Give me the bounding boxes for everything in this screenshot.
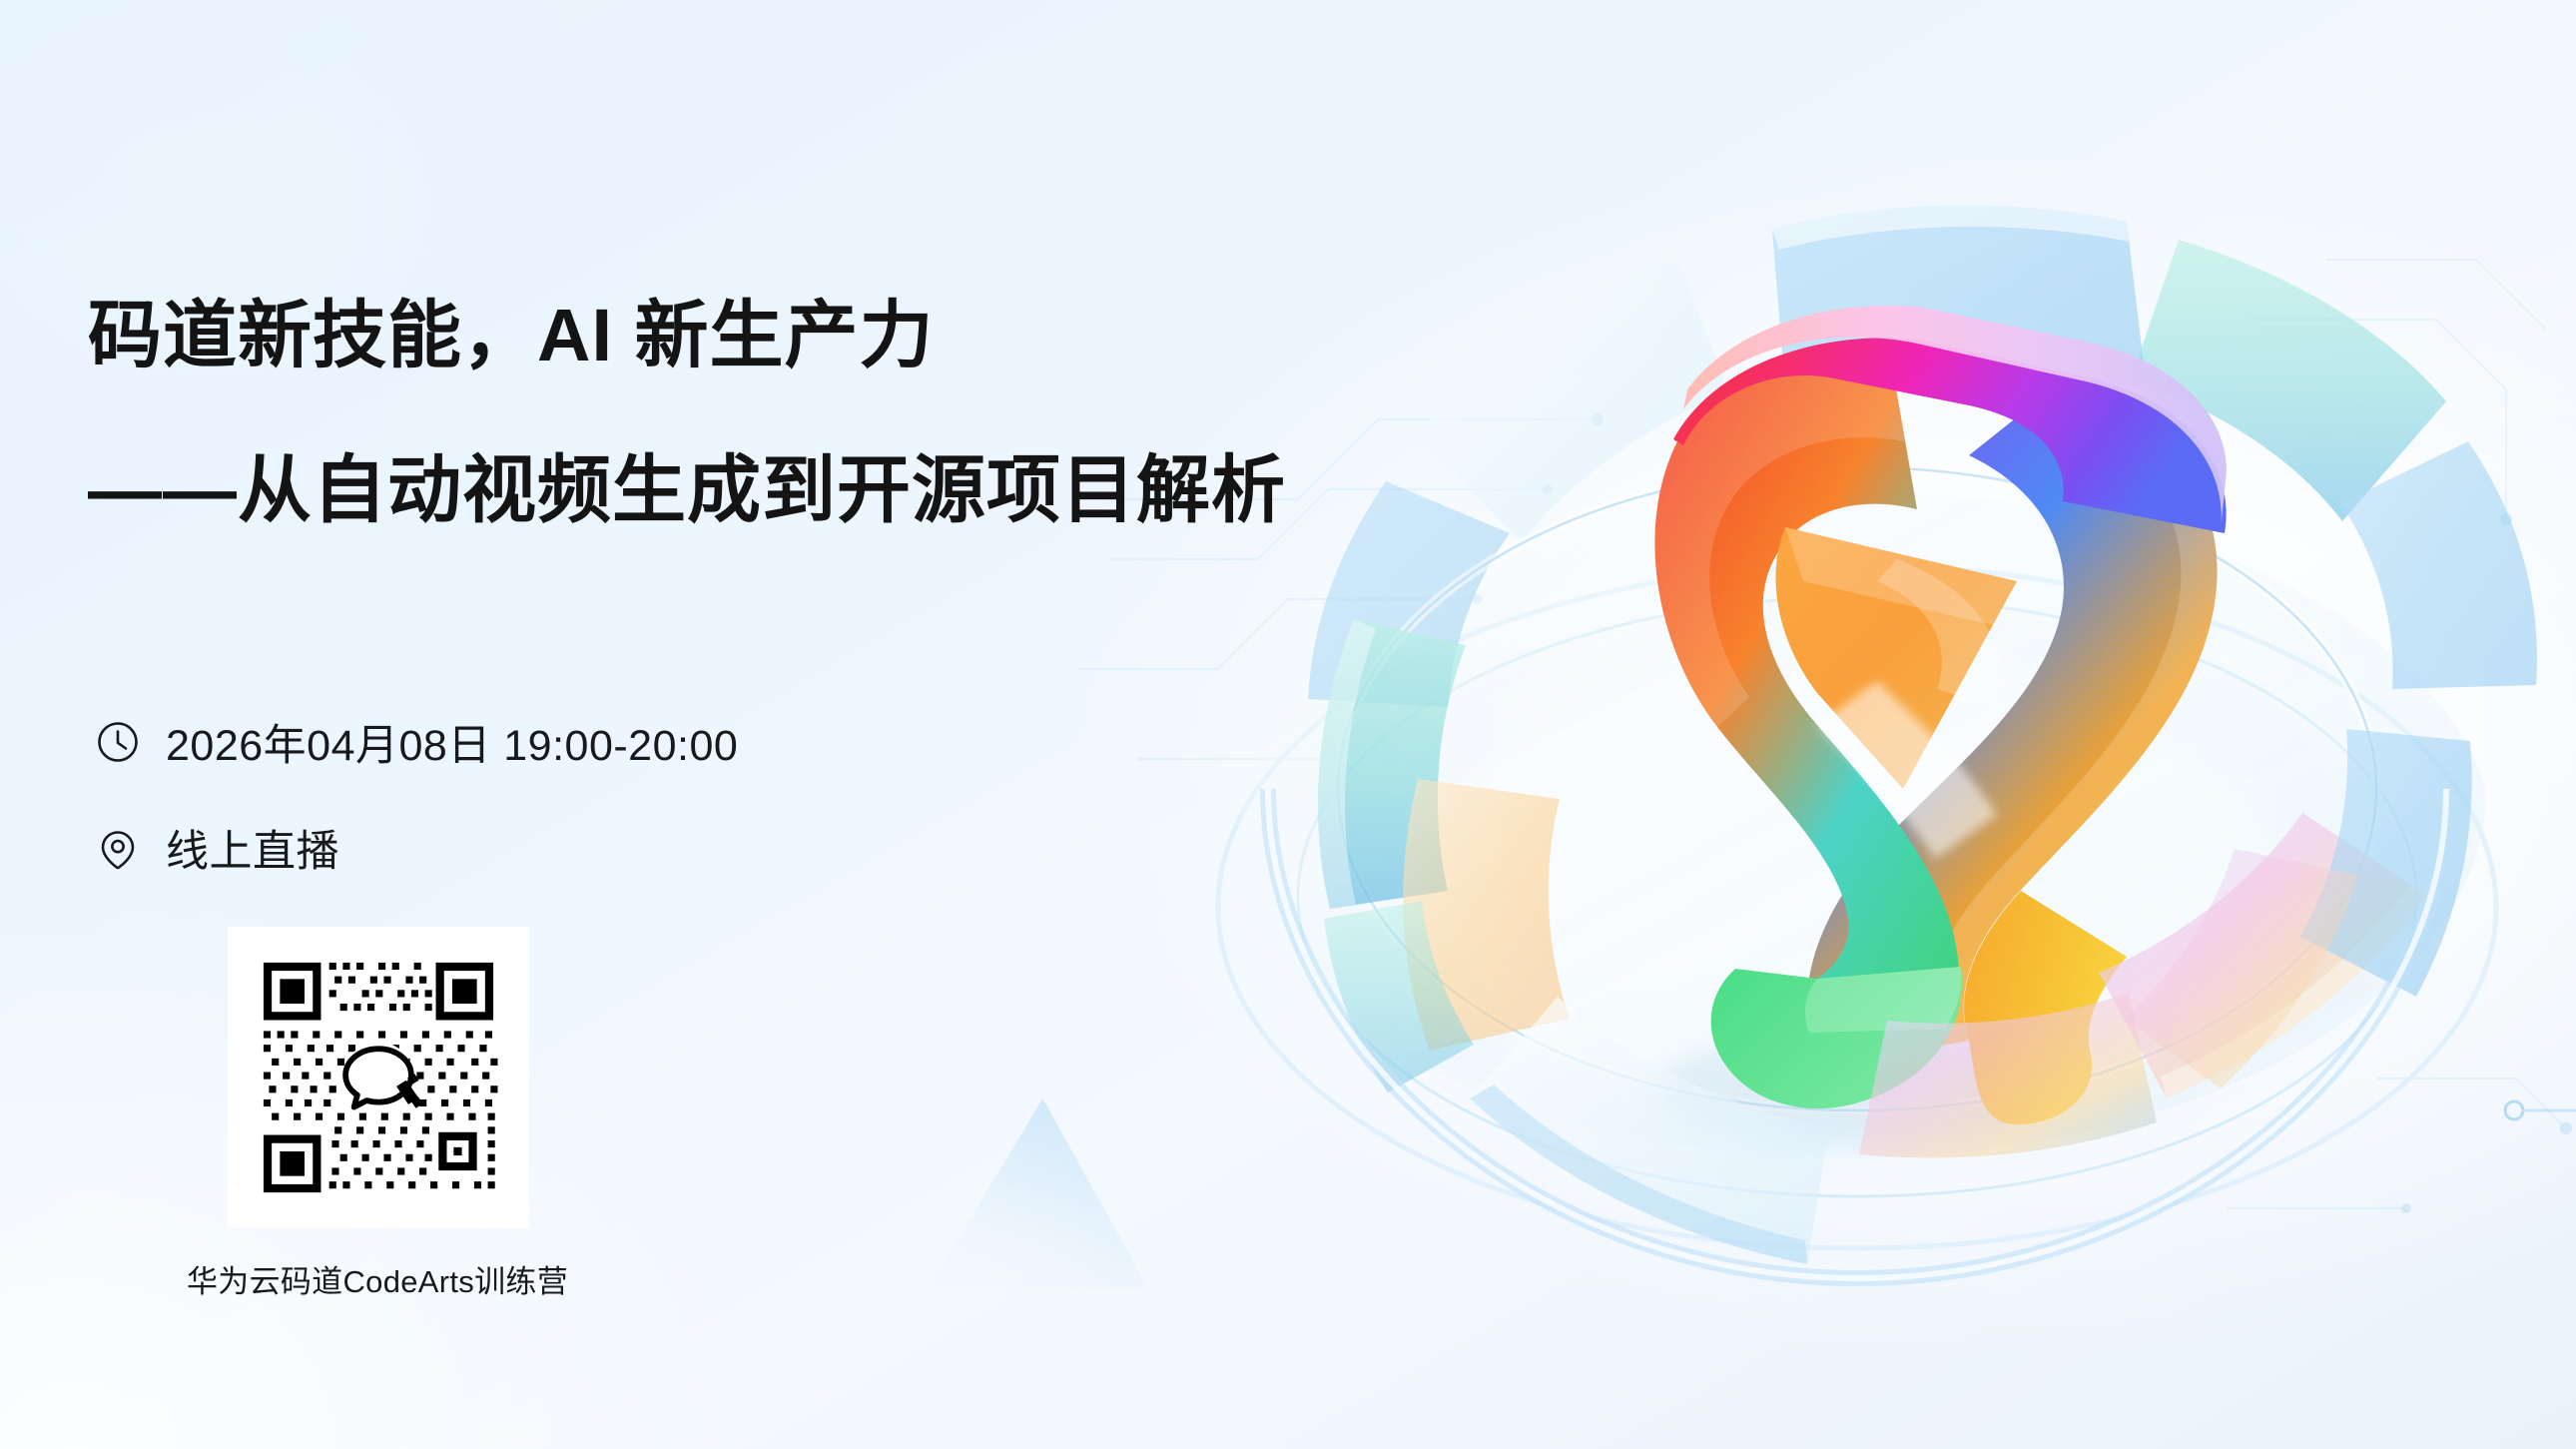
clock-icon bbox=[96, 720, 140, 764]
codearts-ribbon-graphic bbox=[1118, 90, 2576, 1418]
poster-canvas: 码道新技能，AI 新生产力 ——从自动视频生成到开源项目解析 2026年04月0… bbox=[0, 0, 2576, 1449]
location-pin-icon bbox=[96, 826, 140, 870]
event-meta: 2026年04月08日 19:00-20:00 线上直播 bbox=[96, 711, 738, 923]
headline-line-2: ——从自动视频生成到开源项目解析 bbox=[88, 449, 1286, 532]
event-location-text: 线上直播 bbox=[166, 817, 339, 879]
qr-code-block[interactable]: 华为云码道CodeArts训练营 bbox=[228, 927, 529, 1228]
poster-content: 码道新技能，AI 新生产力 ——从自动视频生成到开源项目解析 2026年04月0… bbox=[0, 0, 1098, 1449]
event-location-row: 线上直播 bbox=[96, 817, 738, 879]
qr-code-caption: 华为云码道CodeArts训练营 bbox=[143, 1256, 612, 1301]
qr-code-image[interactable] bbox=[228, 927, 529, 1228]
headline-line-1: 码道新技能，AI 新生产力 bbox=[88, 295, 935, 377]
event-datetime-row: 2026年04月08日 19:00-20:00 bbox=[96, 711, 738, 773]
event-datetime-text: 2026年04月08日 19:00-20:00 bbox=[166, 711, 738, 773]
